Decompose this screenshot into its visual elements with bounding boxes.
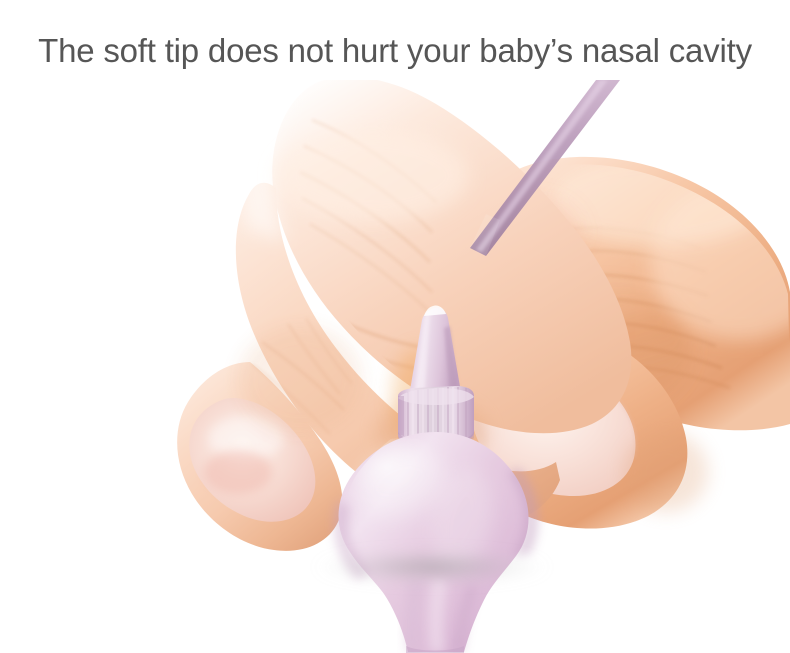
product-feature-banner: The soft tip does not hurt your baby’s n… <box>0 0 790 653</box>
product-photo-overlay <box>0 80 790 653</box>
tip-drop-shadow <box>314 550 550 584</box>
page-title: The soft tip does not hurt your baby’s n… <box>0 32 790 70</box>
product-photo <box>0 80 790 653</box>
